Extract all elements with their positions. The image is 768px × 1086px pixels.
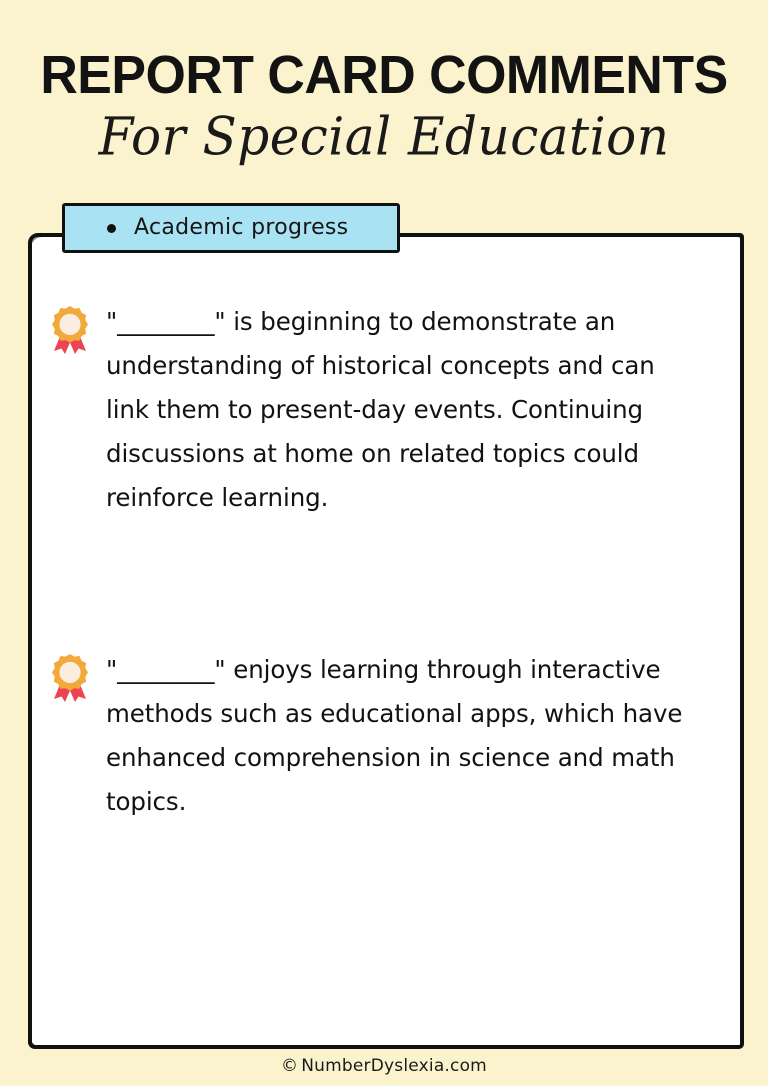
award-rosette-icon bbox=[48, 304, 92, 354]
comment-item: "________" is beginning to demonstrate a… bbox=[48, 300, 688, 520]
page-subtitle: For Special Education bbox=[0, 103, 768, 172]
bullet-dot-icon bbox=[107, 224, 116, 233]
section-tab-label: Academic progress bbox=[134, 215, 348, 241]
page-title: REPORT CARD COMMENTS bbox=[15, 46, 752, 104]
award-rosette-icon bbox=[48, 652, 92, 702]
comment-item: "________" enjoys learning through inter… bbox=[48, 648, 688, 824]
poster-page: REPORT CARD COMMENTS For Special Educati… bbox=[0, 0, 768, 1086]
comment-text: "________" enjoys learning through inter… bbox=[106, 648, 688, 824]
comment-text: "________" is beginning to demonstrate a… bbox=[106, 300, 688, 520]
footer-site-name: NumberDyslexia.com bbox=[301, 1056, 487, 1076]
copyright-icon: © bbox=[281, 1055, 298, 1077]
section-tab-academic-progress[interactable]: Academic progress bbox=[62, 203, 400, 253]
footer-credit: ©NumberDyslexia.com bbox=[0, 1055, 768, 1077]
